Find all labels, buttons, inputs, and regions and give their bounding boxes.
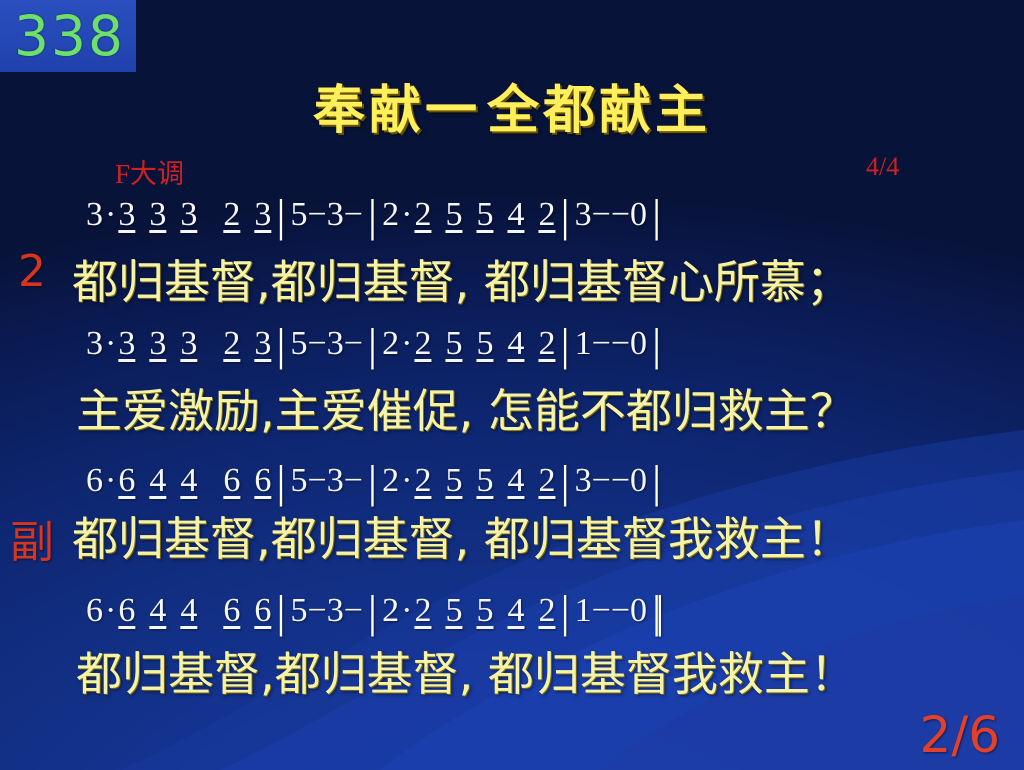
note: 5 — [445, 592, 462, 630]
note: 5 — [476, 196, 493, 234]
barline: | — [555, 199, 574, 232]
note: 6 — [86, 592, 103, 630]
note: 5 — [445, 325, 462, 363]
hymn-slide: 338 奉献一全都献主 F大调 4/4 3·33323|5−3−|2·25542… — [0, 0, 1024, 770]
note-group: 1−−0 — [575, 592, 647, 630]
note: 6 — [86, 462, 103, 500]
note: 6 — [254, 592, 271, 630]
lyric-line-2: 主爱激励,主爱催促, 怎能不都归救主？ — [76, 375, 856, 441]
hymn-number-badge: 338 — [0, 0, 136, 72]
note: 3 — [149, 196, 166, 234]
barline: | — [271, 595, 290, 628]
barline: | — [647, 199, 666, 232]
note: 6 — [223, 462, 240, 500]
notation-line-4: 6·64466|5−3−|2·25542|1−−0|| — [86, 592, 658, 630]
hymn-number: 338 — [14, 2, 125, 70]
dot-prolong: · — [103, 592, 118, 630]
note: 4 — [507, 325, 524, 363]
note: 6 — [254, 462, 271, 500]
note: 4 — [149, 592, 166, 630]
double-barline: || — [647, 595, 658, 628]
barline: | — [271, 328, 290, 361]
note: 2 — [382, 325, 399, 363]
title-text-primary: 奉献 — [313, 81, 425, 141]
key-signature: F大调 — [115, 152, 184, 191]
note: 3 — [118, 325, 135, 363]
dot-prolong: · — [103, 325, 118, 363]
notation-line-1: 3·33323|5−3−|2·25542|3−−0| — [86, 196, 666, 234]
note: 5 — [476, 592, 493, 630]
barline: | — [647, 328, 666, 361]
note: 5 — [476, 325, 493, 363]
barline: | — [271, 199, 290, 232]
title-separator-dash: 一 — [425, 81, 487, 141]
note: 5 — [476, 462, 493, 500]
note: 4 — [149, 462, 166, 500]
note: 3 — [118, 196, 135, 234]
page-indicator: 2/6 — [920, 706, 1000, 764]
barline: | — [647, 465, 666, 498]
note: 6 — [118, 462, 135, 500]
barline: | — [363, 199, 382, 232]
note: 3 — [180, 325, 197, 363]
note: 2 — [414, 592, 431, 630]
note: 4 — [507, 462, 524, 500]
note-group: 3−−0 — [575, 196, 647, 234]
note-group: 5−3− — [291, 462, 363, 500]
dot-prolong: · — [399, 325, 414, 363]
note: 3 — [254, 325, 271, 363]
dot-prolong: · — [103, 462, 118, 500]
note: 5 — [445, 462, 462, 500]
note: 2 — [382, 592, 399, 630]
note: 2 — [414, 325, 431, 363]
title-text-secondary: 全都献主 — [487, 81, 711, 141]
note-group: 5−3− — [291, 196, 363, 234]
time-signature: 4/4 — [866, 152, 899, 182]
barline: | — [555, 328, 574, 361]
barline: | — [555, 595, 574, 628]
note: 4 — [180, 592, 197, 630]
note: 6 — [118, 592, 135, 630]
barline: | — [555, 465, 574, 498]
note: 2 — [538, 462, 555, 500]
note-group: 5−3− — [291, 325, 363, 363]
barline: | — [363, 595, 382, 628]
note: 2 — [538, 196, 555, 234]
note: 4 — [180, 462, 197, 500]
note: 4 — [507, 592, 524, 630]
lyric-line-4: 都归基督,都归基督, 都归基督我救主！ — [76, 638, 856, 704]
note: 5 — [445, 196, 462, 234]
note: 3 — [254, 196, 271, 234]
notation-line-2: 3·33323|5−3−|2·25542|1−−0| — [86, 325, 666, 363]
barline: | — [363, 328, 382, 361]
barline: | — [271, 465, 290, 498]
notation-line-3: 6·64466|5−3−|2·25542|3−−0| — [86, 462, 666, 500]
note: 2 — [414, 462, 431, 500]
barline: | — [363, 465, 382, 498]
dot-prolong: · — [399, 196, 414, 234]
note: 2 — [223, 325, 240, 363]
note: 2 — [382, 462, 399, 500]
dot-prolong: · — [399, 462, 414, 500]
lyric-line-1: 都归基督,都归基督, 都归基督心所慕； — [72, 246, 852, 312]
note: 2 — [382, 196, 399, 234]
note: 6 — [223, 592, 240, 630]
lyric-line-3: 都归基督,都归基督, 都归基督我救主！ — [72, 503, 852, 569]
note-group: 1−−0 — [575, 325, 647, 363]
page-title: 奉献一全都献主 — [0, 68, 1024, 143]
dot-prolong: · — [103, 196, 118, 234]
note: 3 — [86, 196, 103, 234]
note: 2 — [538, 325, 555, 363]
note: 2 — [538, 592, 555, 630]
chorus-marker: 副 — [10, 506, 54, 570]
note-group: 3−−0 — [575, 462, 647, 500]
note: 3 — [149, 325, 166, 363]
note: 4 — [507, 196, 524, 234]
note: 2 — [414, 196, 431, 234]
verse-marker-2: 2 — [18, 246, 46, 297]
note-group: 5−3− — [291, 592, 363, 630]
dot-prolong: · — [399, 592, 414, 630]
note: 3 — [180, 196, 197, 234]
note: 3 — [86, 325, 103, 363]
note: 2 — [223, 196, 240, 234]
